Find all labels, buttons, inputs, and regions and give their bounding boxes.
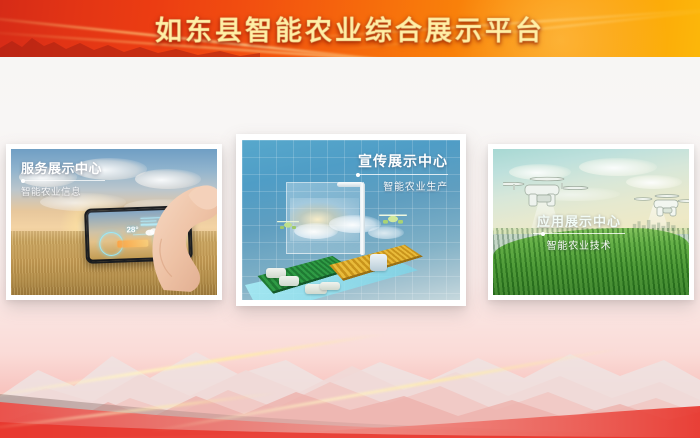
card-2-image: 宣传展示中心 智能农业生产 bbox=[242, 140, 460, 300]
card-1-image: 28° bbox=[11, 149, 217, 295]
card-application-display-center[interactable]: 应用展示中心 智能农业技术 bbox=[488, 144, 694, 300]
card-3-text-block: 应用展示中心 智能农业技术 bbox=[533, 211, 625, 252]
header-banner: 如东县智能农业综合展示平台 bbox=[0, 0, 700, 57]
page-title: 如东县智能农业综合展示平台 bbox=[0, 0, 700, 57]
card-1-dot-marker bbox=[21, 179, 25, 183]
card-3-subtitle: 智能农业技术 bbox=[533, 237, 625, 252]
card-1-subtitle: 智能农业信息 bbox=[21, 184, 105, 198]
card-3-dot-marker bbox=[541, 232, 545, 236]
card-2-title: 宣传展示中心 bbox=[356, 151, 448, 171]
card-service-display-center[interactable]: 28° bbox=[6, 144, 222, 300]
card-2-text-block: 宣传展示中心 智能农业生产 bbox=[356, 151, 448, 193]
hay-bale bbox=[279, 276, 299, 286]
card-3-image: 应用展示中心 智能农业技术 bbox=[493, 149, 689, 295]
hand-illustration bbox=[143, 178, 217, 292]
card-3-divider bbox=[533, 233, 625, 234]
drone-icon bbox=[377, 210, 409, 227]
storage-tank bbox=[370, 254, 387, 272]
street-lamp-pole bbox=[360, 183, 365, 255]
temperature-readout: 28° bbox=[126, 226, 138, 235]
card-1-divider bbox=[21, 180, 105, 181]
card-publicity-display-center[interactable]: 宣传展示中心 智能农业生产 bbox=[236, 134, 466, 306]
card-1-title: 服务展示中心 bbox=[21, 158, 105, 177]
drone-icon bbox=[275, 217, 301, 231]
background-ridge-foreground bbox=[0, 378, 700, 438]
page-root: 如东县智能农业综合展示平台 bbox=[0, 0, 700, 438]
hay-bale bbox=[320, 282, 340, 290]
card-2-dot-marker bbox=[356, 173, 360, 177]
card-2-subtitle: 智能农业生产 bbox=[356, 178, 448, 193]
card-1-text-block: 服务展示中心 智能农业信息 bbox=[21, 158, 105, 198]
cloud-shape bbox=[579, 158, 657, 176]
card-3-title: 应用展示中心 bbox=[533, 211, 625, 230]
card-2-divider bbox=[356, 174, 448, 175]
